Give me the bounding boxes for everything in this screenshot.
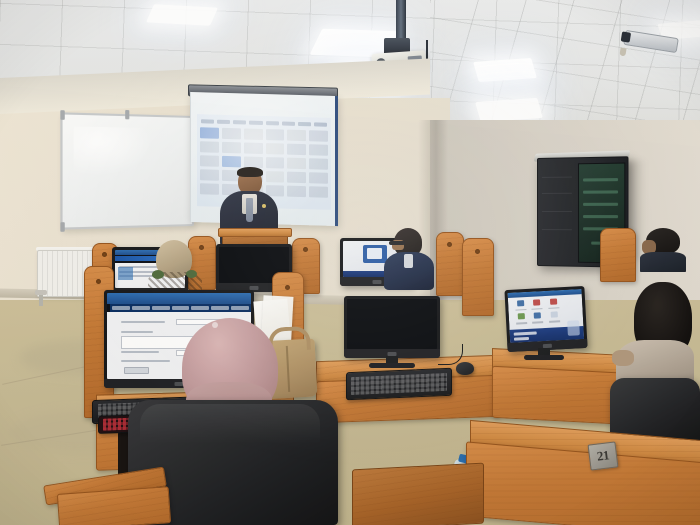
presenter-lapel-pin-icon [262, 204, 266, 208]
student-background-right-torso [640, 252, 686, 272]
chair-wood-seat [57, 486, 171, 525]
whiteboard-clip-center [125, 110, 129, 119]
keyboard-center[interactable] [346, 368, 452, 401]
monitor-right-base [524, 355, 564, 360]
browser-tab[interactable] [172, 306, 190, 311]
desk-side-panel-lower [352, 463, 484, 525]
desktop-icon-6[interactable] [548, 310, 561, 322]
student-hijab-beige-pattern [152, 270, 164, 279]
desktop-icon-5[interactable] [531, 311, 544, 323]
monitor-right[interactable] [504, 286, 587, 352]
chair-foreground-highlight [140, 404, 320, 444]
carrel-divider-panel [600, 228, 636, 282]
whiteboard-clip-left [60, 110, 64, 120]
browser-tab-strip[interactable] [110, 304, 251, 312]
radiator-valve-knob[interactable] [35, 290, 47, 295]
monitor-center-right-base [369, 363, 415, 368]
browser-tab[interactable] [152, 306, 170, 311]
desktop-icon-4[interactable] [515, 312, 528, 324]
browser-tab[interactable] [132, 306, 150, 311]
monitor-right-screen [508, 289, 585, 343]
whiteboard-glare [74, 126, 153, 177]
student-suit-blue-shirt [404, 254, 413, 268]
presenter-tie [246, 198, 253, 222]
student-dark-curly-hair-hand [612, 350, 634, 366]
carrel-divider-panel [462, 238, 494, 316]
lectern-top [218, 228, 292, 237]
browser-tab[interactable] [211, 306, 229, 311]
classroom-photo: 21 [0, 0, 700, 525]
browser-tab[interactable] [191, 306, 209, 311]
glasses-icon [389, 241, 405, 245]
ceiling-light-panel-5 [475, 98, 543, 122]
slide-toolbar [201, 117, 327, 128]
form-submit-button[interactable] [124, 367, 149, 374]
browser-tab[interactable] [231, 306, 249, 311]
whiteboard[interactable] [60, 112, 194, 229]
presenter-hair [237, 167, 263, 177]
mouse-center[interactable] [456, 362, 474, 375]
carrel-divider-panel [436, 232, 464, 296]
desk-number-label: 21 [596, 447, 610, 464]
hijab-pin-icon [212, 322, 218, 328]
ceiling-light-panel-2 [146, 4, 218, 25]
projector-mount-pole [396, 0, 406, 42]
browser-tab[interactable] [112, 306, 130, 311]
ceiling-light-panel-4 [473, 58, 537, 82]
monitor-center-right-screen [347, 299, 437, 349]
whiteboard-clip-bottom [60, 222, 64, 232]
desktop-icon-1[interactable] [514, 299, 527, 311]
student-suit-blue [384, 228, 434, 290]
student-background-right [640, 228, 686, 270]
taskbar-preview [567, 320, 580, 336]
monitor-center-right[interactable] [344, 296, 440, 358]
student-hijab-beige-pattern-2 [186, 270, 197, 278]
desktop-icon-2[interactable] [530, 298, 543, 310]
desk-number-plate: 21 [588, 441, 619, 470]
desktop-icons[interactable] [514, 297, 561, 322]
desktop-icon-3[interactable] [547, 297, 560, 309]
